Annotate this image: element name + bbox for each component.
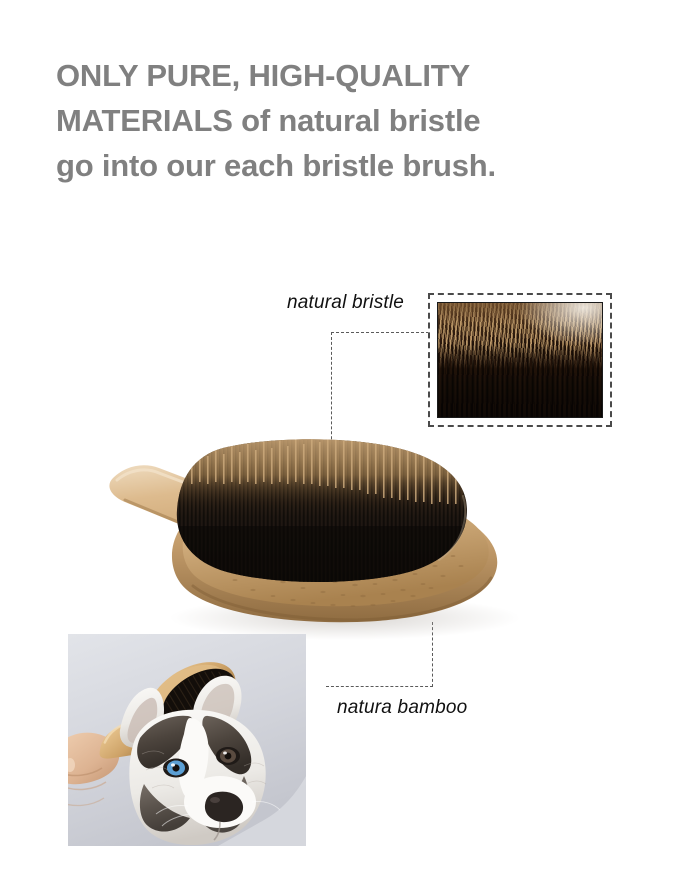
bristle-closeup-inset — [428, 293, 612, 427]
bristle-closeup-photo — [437, 302, 603, 418]
infographic-page: ONLY PURE, HIGH-QUALITY MATERIALS of nat… — [0, 0, 679, 873]
headline-line-1: ONLY PURE, HIGH-QUALITY — [56, 54, 656, 99]
husky-dark-eye — [216, 747, 240, 765]
callout-label-natural-bristle: natural bristle — [287, 292, 404, 314]
leader-line-bristle-horizontal — [331, 332, 429, 333]
callout-label-natura-bamboo: natura bamboo — [337, 697, 467, 719]
leader-line-bamboo-horizontal — [326, 686, 433, 687]
bristle-highlight-glow — [512, 303, 602, 349]
product-photo-brush — [95, 440, 550, 645]
page-title: ONLY PURE, HIGH-QUALITY MATERIALS of nat… — [56, 54, 656, 189]
lifestyle-photo-husky — [68, 634, 306, 846]
husky-blue-eye — [163, 759, 189, 778]
headline-line-2: MATERIALS of natural bristle — [56, 99, 656, 144]
headline-line-3: go into our each bristle brush. — [56, 144, 656, 189]
